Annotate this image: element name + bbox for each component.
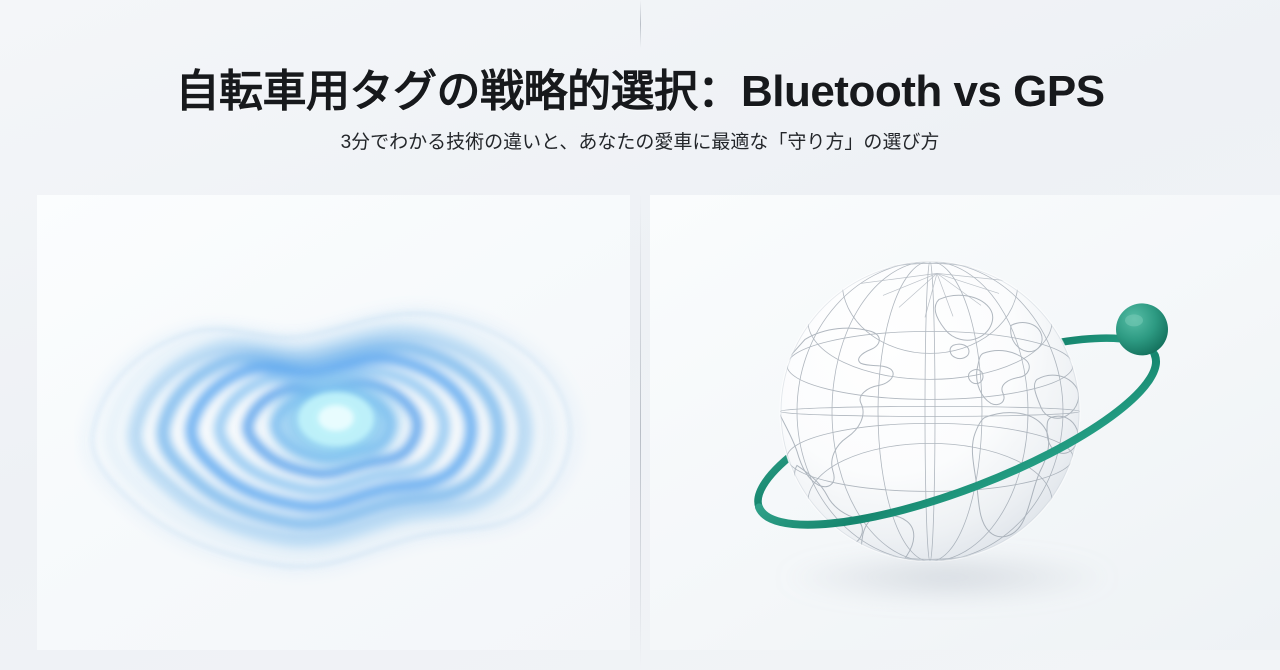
gps-panel xyxy=(650,195,1280,650)
slide-canvas: 自転車用タグの戦略的選択：Bluetooth vs GPS 3分でわかる技術の違… xyxy=(0,0,1280,670)
bluetooth-panel xyxy=(37,195,630,650)
vertical-divider-bottom xyxy=(640,194,641,670)
slide-header: 自転車用タグの戦略的選択：Bluetooth vs GPS 3分でわかる技術の違… xyxy=(0,66,1280,157)
bluetooth-ripple-icon xyxy=(74,223,594,623)
page-title: 自転車用タグの戦略的選択：Bluetooth vs GPS xyxy=(0,66,1280,118)
gps-globe-icon xyxy=(685,221,1245,641)
page-subtitle: 3分でわかる技術の違いと、あなたの愛車に最適な「守り方」の選び方 xyxy=(0,130,1280,157)
vertical-divider-top xyxy=(640,0,641,48)
